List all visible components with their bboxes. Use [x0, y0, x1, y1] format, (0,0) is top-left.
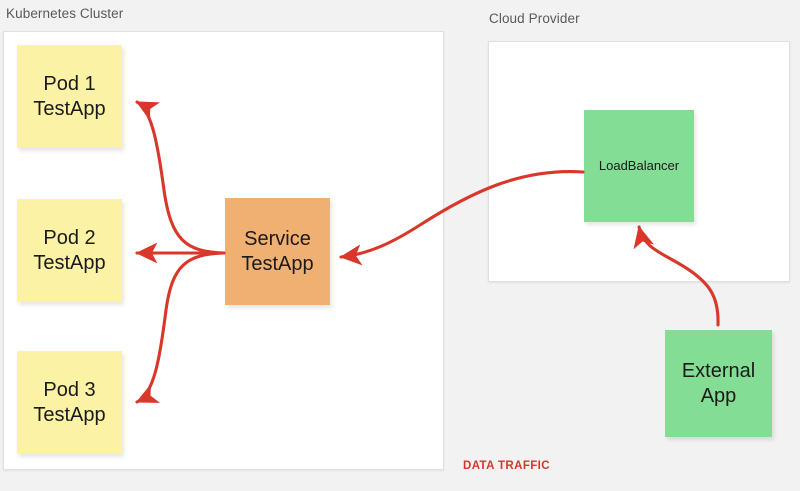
group-label-kubernetes-cluster: Kubernetes Cluster: [6, 6, 123, 21]
diagram-canvas: Kubernetes Cluster Cloud Provider Pod 1 …: [0, 0, 800, 491]
node-service[interactable]: Service TestApp: [225, 198, 330, 305]
node-pod-2-line2: TestApp: [33, 251, 105, 275]
node-pod-3-line1: Pod 3: [43, 378, 95, 402]
node-service-line2: TestApp: [241, 252, 313, 276]
node-pod-1-line2: TestApp: [33, 97, 105, 121]
node-pod-1-line1: Pod 1: [43, 72, 95, 96]
node-service-line1: Service: [244, 227, 311, 251]
node-external-app-line2: App: [701, 384, 737, 408]
node-external-app[interactable]: External App: [665, 330, 772, 437]
node-loadbalancer-label: LoadBalancer: [599, 158, 679, 174]
node-loadbalancer[interactable]: LoadBalancer: [584, 110, 694, 222]
node-pod-3[interactable]: Pod 3 TestApp: [17, 351, 122, 454]
group-label-cloud-provider: Cloud Provider: [489, 11, 580, 26]
node-pod-3-line2: TestApp: [33, 403, 105, 427]
node-pod-2-line1: Pod 2: [43, 226, 95, 250]
node-external-app-line1: External: [682, 359, 755, 383]
legend-data-traffic: DATA TRAFFIC: [463, 460, 550, 472]
node-pod-1[interactable]: Pod 1 TestApp: [17, 45, 122, 148]
node-pod-2[interactable]: Pod 2 TestApp: [17, 199, 122, 302]
